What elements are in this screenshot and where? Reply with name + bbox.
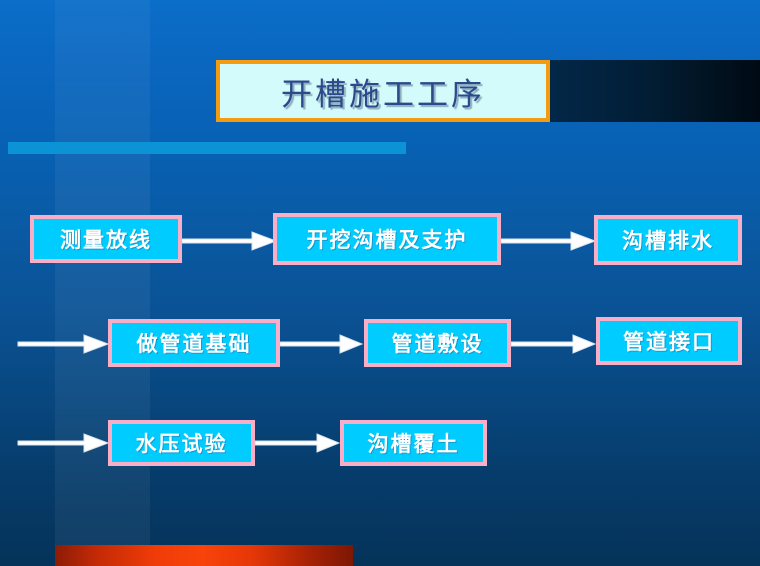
node-pipe-joint[interactable]: 管道接口 [596, 317, 742, 365]
node-label: 水压试验 [136, 428, 228, 458]
bottom-accent-bar [55, 545, 353, 566]
accent-bar [8, 142, 406, 154]
node-label: 测量放线 [60, 224, 152, 254]
node-label: 做管道基础 [137, 328, 252, 358]
arrow-foundation-to-laying [280, 331, 364, 357]
node-label: 沟槽排水 [622, 225, 714, 255]
node-label: 开挖沟槽及支护 [307, 224, 468, 254]
node-label: 管道接口 [623, 326, 715, 356]
arrow-wrap-into-hydraulic-test [18, 430, 110, 456]
slide-title-box: 开槽施工工序 [216, 60, 550, 122]
node-pipe-laying[interactable]: 管道敷设 [364, 319, 511, 367]
node-measure-setout[interactable]: 测量放线 [30, 215, 182, 263]
arrow-excavate-to-drainage [501, 228, 597, 254]
background-light-band [55, 0, 150, 566]
arrow-laying-to-joint [511, 331, 597, 357]
node-trench-backfill[interactable]: 沟槽覆土 [340, 420, 487, 466]
node-trench-drainage[interactable]: 沟槽排水 [594, 215, 742, 265]
arrow-wrap-into-pipe-foundation [18, 331, 110, 357]
page-title: 开槽施工工序 [281, 69, 485, 114]
node-label: 沟槽覆土 [368, 428, 460, 458]
arrow-test-to-backfill [255, 430, 341, 456]
node-label: 管道敷设 [392, 328, 484, 358]
node-pipe-foundation[interactable]: 做管道基础 [108, 319, 280, 367]
node-hydraulic-test[interactable]: 水压试验 [108, 420, 255, 466]
slide-canvas: 开槽施工工序 测量放线 开挖沟槽及支护 沟槽排水 做管道基础 管道敷设 管 [0, 0, 760, 566]
arrow-measure-to-excavate [182, 228, 278, 254]
node-excavate-trench-support[interactable]: 开挖沟槽及支护 [273, 213, 501, 265]
